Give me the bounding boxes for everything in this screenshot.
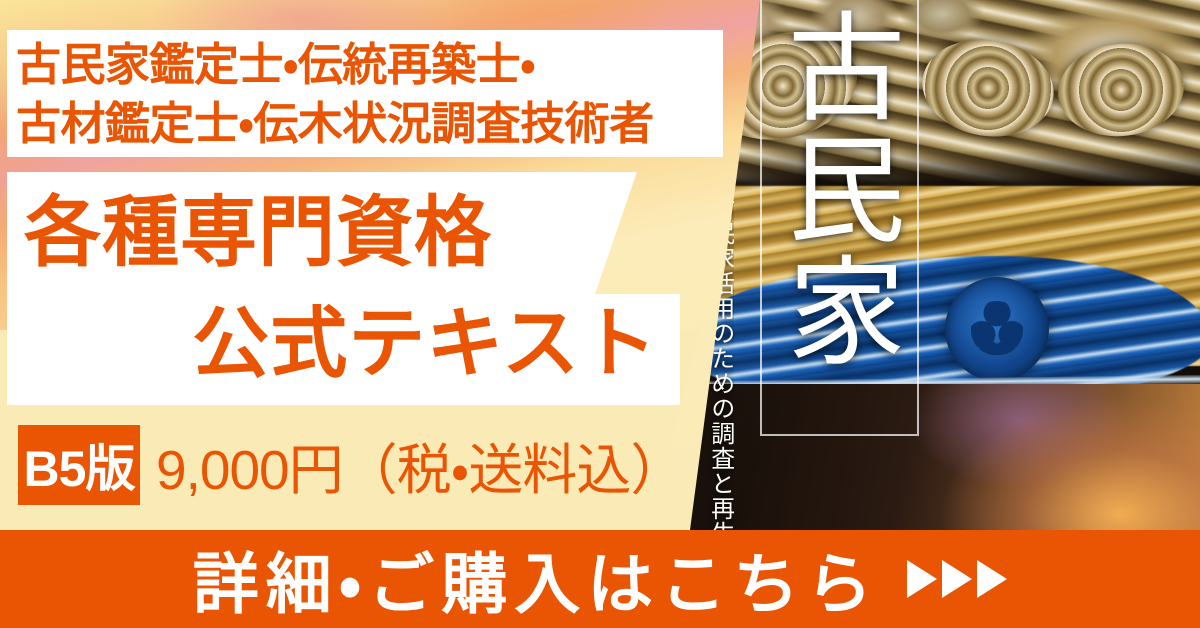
- format-badge: B5版: [18, 425, 140, 505]
- triangle-right-icon: [977, 560, 1007, 598]
- triangle-right-icon: [907, 560, 937, 598]
- promo-banner: 伝統構法 古民家 古民家活用のための調査と再生の 古民家鑑定士・伝統再築士・ 古…: [0, 0, 1200, 628]
- triangle-right-icon: [942, 560, 972, 598]
- qualifications-line-1: 古民家鑑定士・伝統再築士・: [16, 36, 722, 95]
- cta-arrows: [907, 560, 1007, 598]
- cta-label: 詳細・ご購入はこちら: [193, 531, 879, 627]
- qualifications-lead: 古民家鑑定士・伝統再築士・ 古材鑑定士・伝木状況調査技術者: [16, 36, 722, 154]
- price-row: B5版 9,000円（税・送料込）: [0, 424, 700, 506]
- cta-button[interactable]: 詳細・ご購入はこちら: [0, 530, 1200, 628]
- headline-line-2: 公式テキスト: [10, 289, 670, 400]
- headline-line-1: 各種専門資格: [10, 178, 670, 289]
- page-title: 各種専門資格 公式テキスト: [10, 178, 670, 400]
- cover-title-text: 古民家: [783, 6, 903, 372]
- qualifications-line-2: 古材鑑定士・伝木状況調査技術者: [16, 95, 722, 154]
- price-amount: 9,000円（税・送料込）: [156, 425, 684, 505]
